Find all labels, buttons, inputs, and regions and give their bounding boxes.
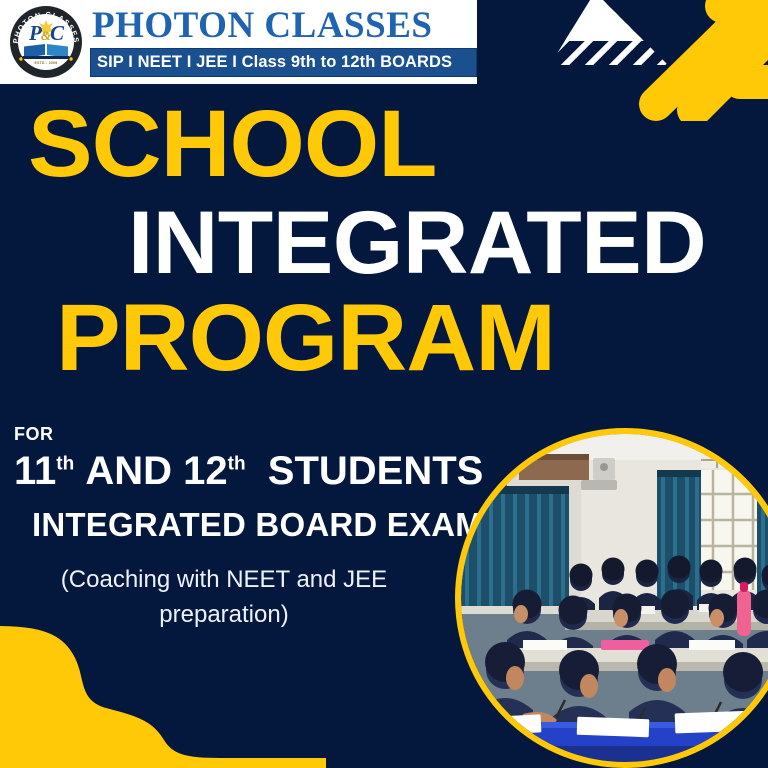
headline-row-3: PROGRAM (0, 298, 545, 379)
grade-students-label: STUDENTS (268, 449, 484, 493)
logo-monogram: P&C (8, 23, 84, 44)
logo-monogram-c: C (50, 21, 63, 45)
wave-blob-icon (0, 612, 326, 768)
headline-line-1: SCHOOL (28, 104, 436, 185)
headline-line-2: INTEGRATED (128, 205, 706, 281)
poster-canvas: PHOTON CLASSES TEZPUR P&C ESTD - 2009 (0, 0, 768, 768)
headline-row-2: INTEGRATED (0, 205, 695, 281)
brand-header: PHOTON CLASSES TEZPUR P&C ESTD - 2009 (0, 0, 477, 84)
striped-triangle-icon (540, 0, 670, 70)
chevron-bars-icon (636, 0, 768, 121)
brand-courses-strip: SIP I NEET I JEE I Class 9th to 12th BOA… (90, 48, 477, 78)
classroom-photo (455, 428, 768, 768)
headline-row-1: SCHOOL (0, 104, 428, 185)
logo-monogram-amp: & (41, 28, 50, 43)
coaching-note: (Coaching with NEET and JEE preparation) (14, 563, 434, 633)
logo-book-base (22, 56, 70, 59)
logo-monogram-p: P (29, 21, 41, 45)
photon-classes-logo: PHOTON CLASSES TEZPUR P&C ESTD - 2009 (8, 4, 84, 80)
grade-11-suffix: th (56, 454, 74, 475)
brand-text-block: PHOTON CLASSES SIP I NEET I JEE I Class … (90, 7, 477, 78)
grade-11: 11 (14, 449, 56, 493)
grade-space (246, 449, 268, 493)
grade-conjunction (74, 449, 85, 493)
grade-12-suffix: th (228, 454, 246, 475)
logo-estd-label: ESTD - 2009 (8, 61, 84, 65)
brand-name: PHOTON CLASSES (90, 7, 477, 44)
headline-line-3: PROGRAM (56, 298, 555, 379)
grade-12: AND 12 (85, 449, 227, 493)
